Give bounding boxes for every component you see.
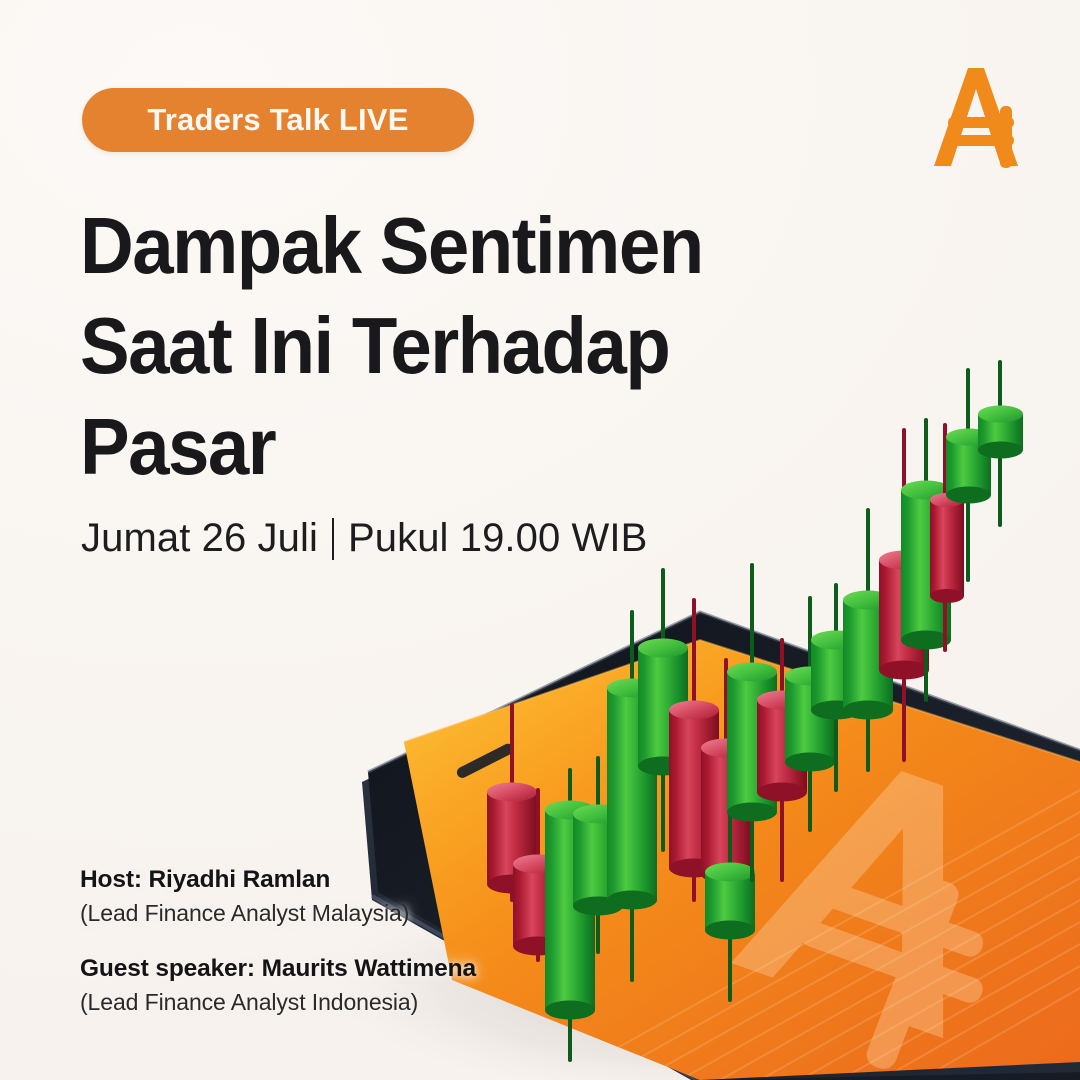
headline-line-2: Saat Ini Terhadap bbox=[80, 296, 787, 396]
presenter-guest-role: (Lead Finance Analyst Indonesia) bbox=[80, 989, 600, 1016]
candle-9-bull bbox=[705, 690, 755, 1000]
schedule-date: Jumat 26 Juli bbox=[81, 516, 318, 561]
schedule-time: Pukul 19.00 WIB bbox=[348, 516, 647, 561]
presenter-host-role: (Lead Finance Analyst Malaysia) bbox=[80, 900, 600, 927]
candle-10-bull bbox=[727, 565, 777, 880]
octa-a-logo-icon bbox=[930, 62, 1034, 170]
page-title: Dampak Sentimen Saat Ini Terhadap Pasar bbox=[80, 196, 787, 497]
candle-16-bull bbox=[901, 420, 951, 700]
headline-line-3: Pasar bbox=[80, 397, 787, 497]
phone-speaker-notch bbox=[455, 742, 515, 780]
schedule-separator bbox=[332, 518, 334, 560]
candle-13-bull bbox=[811, 585, 861, 790]
presenter-host: Host: Riyadhi Ramlan (Lead Finance Analy… bbox=[80, 866, 600, 927]
presenter-list: Host: Riyadhi Ramlan (Lead Finance Analy… bbox=[80, 866, 600, 1016]
live-badge-label: Traders Talk LIVE bbox=[147, 102, 408, 138]
presenter-host-name: Host: Riyadhi Ramlan bbox=[80, 866, 600, 894]
candle-6-bull bbox=[638, 570, 688, 850]
candle-18-bull bbox=[946, 370, 991, 580]
candle-15-bear bbox=[879, 430, 929, 760]
presenter-guest-name: Guest speaker: Maurits Wattimena bbox=[80, 955, 600, 983]
candle-14-bull bbox=[843, 510, 893, 770]
live-badge: Traders Talk LIVE bbox=[82, 88, 474, 152]
octa-a-logo-watermark-icon bbox=[713, 741, 1047, 1080]
candle-8-bear bbox=[701, 660, 751, 925]
poster-canvas: Traders Talk LIVE Dampak Sentimen Saat I… bbox=[0, 0, 1080, 1080]
schedule-line: Jumat 26 Juli Pukul 19.00 WIB bbox=[81, 516, 647, 561]
headline-line-1: Dampak Sentimen bbox=[80, 196, 787, 296]
candle-17-bear bbox=[930, 425, 964, 650]
candle-7-bear bbox=[669, 600, 719, 900]
screen-line-texture bbox=[560, 790, 1080, 1080]
candle-12-bull bbox=[785, 598, 835, 830]
candle-19-bull bbox=[978, 362, 1023, 525]
candle-11-bear bbox=[757, 640, 807, 880]
presenter-guest: Guest speaker: Maurits Wattimena (Lead F… bbox=[80, 955, 600, 1016]
candle-5-bull bbox=[607, 612, 657, 980]
